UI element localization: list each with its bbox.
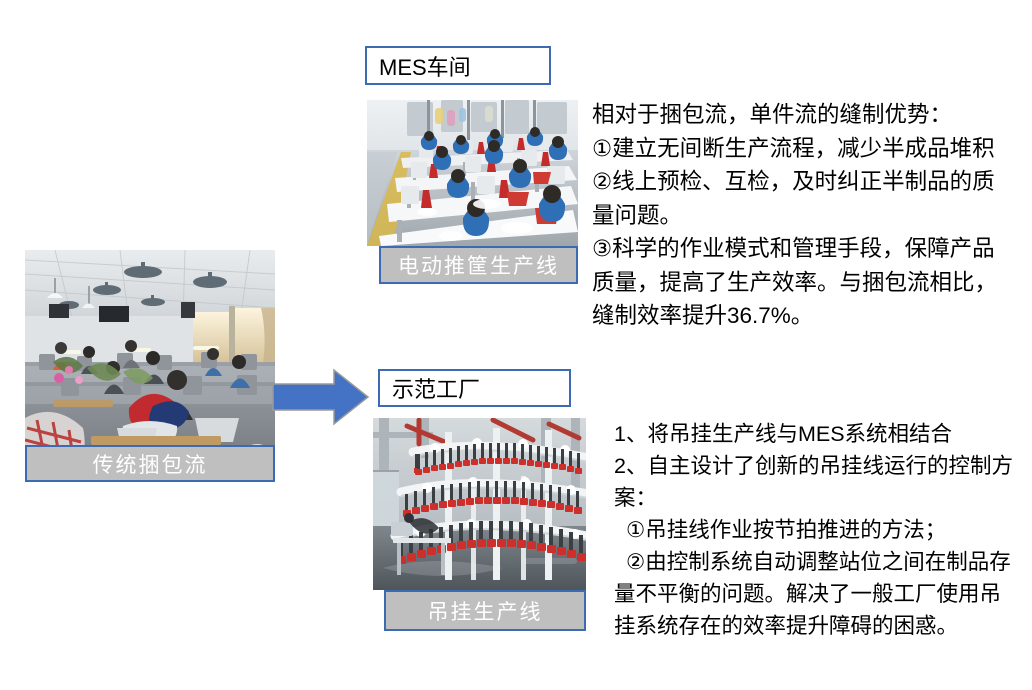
- mes-workshop-title-box: MES车间: [365, 46, 551, 85]
- electric-bin-line-photo-art: [367, 100, 578, 246]
- left-photo-caption-text: 传统捆包流: [93, 449, 208, 479]
- top-photo-caption: 电动推筐生产线: [379, 246, 578, 284]
- mes-workshop-title-text: MES车间: [379, 50, 471, 82]
- flow-arrow-right-icon: [272, 366, 370, 428]
- electric-bin-line-photo: [367, 100, 578, 246]
- mes-advantages-text: 相对于捆包流，单件流的缝制优势： ①建立无间断生产流程，减少半成品堆积 ②线上预…: [592, 98, 1012, 333]
- hanging-line-photo-art: [373, 418, 586, 590]
- bottom-photo-caption-text: 吊挂生产线: [428, 596, 543, 626]
- left-photo-caption: 传统捆包流: [25, 445, 275, 482]
- top-photo-caption-text: 电动推筐生产线: [398, 250, 559, 280]
- demo-factory-title-text: 示范工厂: [392, 372, 480, 404]
- bottom-photo-caption: 吊挂生产线: [384, 590, 586, 631]
- demo-factory-description-text: 1、将吊挂生产线与MES系统相结合 2、自主设计了创新的吊挂线运行的控制方案： …: [614, 418, 1022, 642]
- flow-arrow-right: [272, 366, 370, 428]
- hanging-line-photo: [373, 418, 586, 590]
- demo-factory-title-box: 示范工厂: [378, 369, 571, 407]
